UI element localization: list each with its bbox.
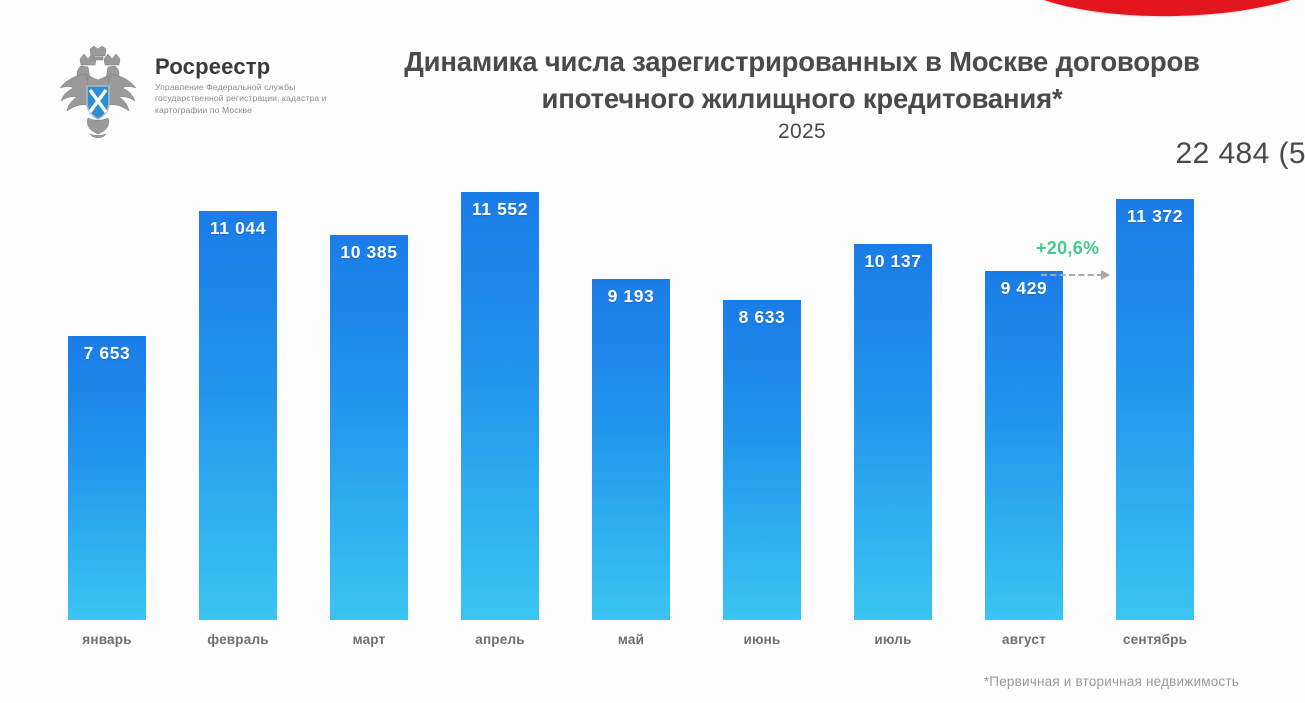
bar[interactable]: 11 552апрель — [461, 192, 539, 620]
bar-category-label: май — [570, 632, 692, 647]
bar-category-label: январь — [46, 632, 168, 647]
bar-value-label: 11 372 — [1116, 206, 1194, 227]
bar-group: 10 137июль — [854, 244, 932, 620]
bar-value-label: 9 429 — [985, 278, 1063, 299]
bar-group: 11 552апрель — [461, 192, 539, 620]
bar-value-label: 8 633 — [723, 307, 801, 328]
bar-group: 7 653январь — [68, 336, 146, 620]
bar[interactable]: 10 137июль — [854, 244, 932, 620]
bar-value-label: 7 653 — [68, 343, 146, 364]
dashed-arrow-right-icon — [1041, 270, 1115, 280]
bar-value-label: 10 385 — [330, 242, 408, 263]
bar-group: 11 044февраль — [199, 211, 277, 620]
bar-group: 9 193май — [592, 279, 670, 620]
bar-category-label: июль — [832, 632, 954, 647]
bar[interactable]: 7 653январь — [68, 336, 146, 620]
growth-percent-label: +20,6% — [1036, 238, 1156, 259]
bar[interactable]: 9 193май — [592, 279, 670, 620]
bar-chart-plot-area: 7 653январь11 044февраль10 385март11 552… — [0, 0, 1305, 703]
bar-category-label: февраль — [177, 632, 299, 647]
slide-canvas: Росреестр Управление Федеральной службы … — [0, 0, 1305, 703]
bar[interactable]: 8 633июнь — [723, 300, 801, 620]
bar-category-label: март — [308, 632, 430, 647]
bar-category-label: сентябрь — [1094, 632, 1216, 647]
bar-category-label: апрель — [439, 632, 561, 647]
footnote: *Первичная и вторичная недвижимость — [984, 674, 1239, 689]
bar-group: 10 385март — [330, 235, 408, 620]
bar-category-label: июнь — [701, 632, 823, 647]
bar-value-label: 11 044 — [199, 218, 277, 239]
bar[interactable]: 10 385март — [330, 235, 408, 620]
bar-value-label: 10 137 — [854, 251, 932, 272]
bar-category-label: август — [963, 632, 1085, 647]
bar-group: 9 429август — [985, 271, 1063, 620]
bar-value-label: 11 552 — [461, 199, 539, 220]
bar[interactable]: 9 429август — [985, 271, 1063, 620]
bar[interactable]: 11 044февраль — [199, 211, 277, 620]
bar-group: 8 633июнь — [723, 300, 801, 620]
growth-annotation: +20,6% — [1036, 238, 1156, 280]
bar-value-label: 9 193 — [592, 286, 670, 307]
